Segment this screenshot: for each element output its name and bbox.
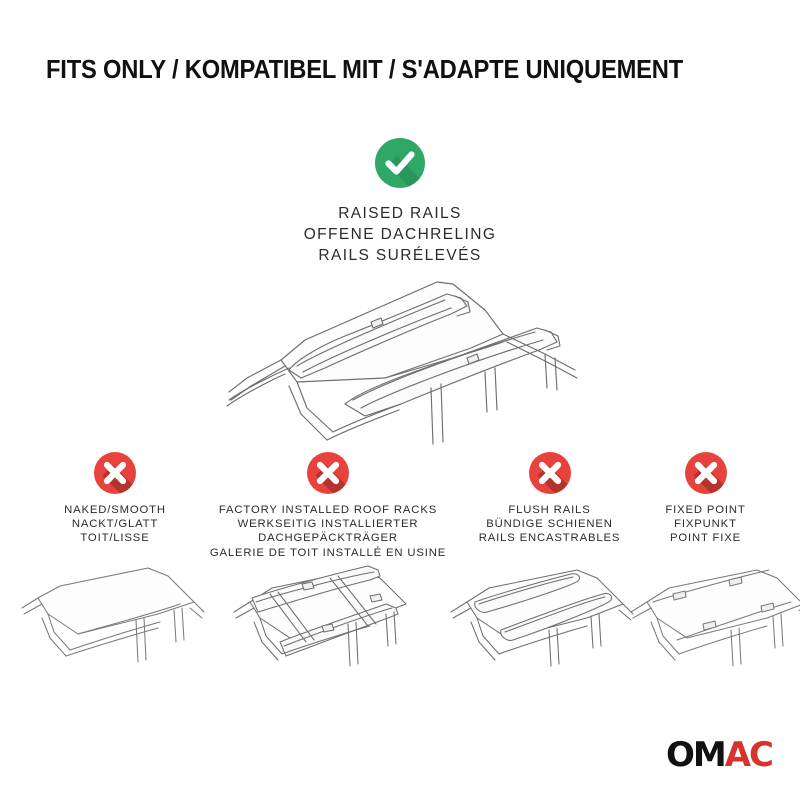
page-title: FITS ONLY / KOMPATIBEL MIT / S'ADAPTE UN… — [46, 56, 683, 85]
label-de: FIXPUNKT — [633, 517, 778, 531]
car-roof-with-raised-rails-illustration — [185, 262, 615, 457]
logo-text-dark: OM — [666, 735, 725, 775]
x-mark-glyph — [307, 452, 349, 494]
label-en: FLUSH RAILS — [452, 503, 647, 517]
x-mark-glyph — [685, 452, 727, 494]
label-fr: TOIT/LISSE — [15, 531, 215, 545]
incompatible-item-naked-smooth: NAKED/SMOOTH NACKT/GLATT TOIT/LISSE — [15, 452, 215, 546]
incompatible-item-fixed-point: FIXED POINT FIXPUNKT POINT FIXE — [633, 452, 778, 546]
check-circle-icon — [375, 138, 425, 188]
car-roof-fixed-point-illustration — [615, 556, 800, 686]
x-circle-icon — [529, 452, 571, 494]
compatible-labels: RAISED RAILS OFFENE DACHRELING RAILS SUR… — [0, 204, 800, 267]
label-fr: RAILS ENCASTRABLES — [452, 531, 647, 545]
label-de-1: WERKSEITIG INSTALLIERTER — [203, 517, 453, 531]
incompatible-labels: NAKED/SMOOTH NACKT/GLATT TOIT/LISSE — [15, 503, 215, 546]
x-circle-icon — [94, 452, 136, 494]
label-en: NAKED/SMOOTH — [15, 503, 215, 517]
x-circle-icon — [307, 452, 349, 494]
car-roof-flush-rails-illustration — [435, 556, 635, 686]
compatible-label-de: OFFENE DACHRELING — [0, 225, 800, 246]
check-mark-glyph — [375, 138, 425, 188]
incompatible-labels: FIXED POINT FIXPUNKT POINT FIXE — [633, 503, 778, 546]
incompatible-labels: FACTORY INSTALLED ROOF RACKS WERKSEITIG … — [203, 503, 453, 560]
compatible-label-en: RAISED RAILS — [0, 204, 800, 225]
car-roof-factory-installed-racks-illustration — [218, 556, 418, 686]
label-en: FIXED POINT — [633, 503, 778, 517]
x-mark-glyph — [529, 452, 571, 494]
omac-logo: OMAC — [666, 738, 772, 772]
incompatible-labels: FLUSH RAILS BÜNDIGE SCHIENEN RAILS ENCAS… — [452, 503, 647, 546]
x-mark-glyph — [94, 452, 136, 494]
label-de: BÜNDIGE SCHIENEN — [452, 517, 647, 531]
logo-text-red: AC — [725, 735, 772, 775]
incompatible-item-flush-rails: FLUSH RAILS BÜNDIGE SCHIENEN RAILS ENCAS… — [452, 452, 647, 546]
label-de-2: DACHGEPÄCKTRÄGER — [203, 531, 453, 545]
label-fr: POINT FIXE — [633, 531, 778, 545]
label-en: FACTORY INSTALLED ROOF RACKS — [203, 503, 453, 517]
compatible-section: RAISED RAILS OFFENE DACHRELING RAILS SUR… — [0, 138, 800, 267]
car-roof-naked-smooth-illustration — [8, 556, 208, 686]
label-de: NACKT/GLATT — [15, 517, 215, 531]
incompatible-item-factory-racks: FACTORY INSTALLED ROOF RACKS WERKSEITIG … — [203, 452, 453, 560]
x-circle-icon — [685, 452, 727, 494]
